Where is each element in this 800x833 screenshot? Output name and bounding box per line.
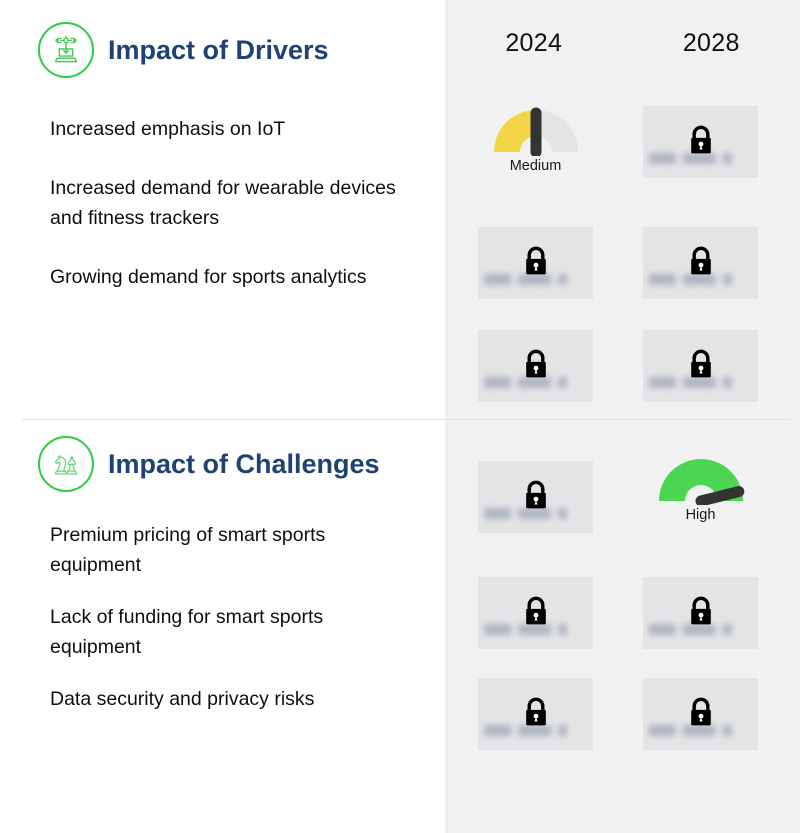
section-divider: [22, 419, 790, 420]
gauge-dial: [653, 455, 749, 505]
list-item: Growing demand for sports analytics: [50, 262, 410, 292]
gauge-high: High: [643, 455, 758, 527]
cell-challenges-0-2028[interactable]: High: [643, 455, 758, 527]
lock-icon: [521, 479, 551, 513]
locked-tile[interactable]: [478, 461, 593, 533]
chess-pieces-icon: [38, 436, 94, 492]
drivers-list: Increased emphasis on IoT Increased dema…: [0, 114, 445, 292]
locked-tile[interactable]: [643, 106, 758, 178]
locked-tile[interactable]: [643, 330, 758, 402]
list-item: Increased emphasis on IoT: [50, 114, 410, 144]
cell-drivers-0-2028[interactable]: [643, 106, 758, 178]
list-item: Lack of funding for smart sports equipme…: [50, 602, 410, 662]
challenges-list: Premium pricing of smart sports equipmen…: [0, 520, 445, 714]
laptop-innovation-icon: [38, 22, 94, 78]
lock-icon: [521, 595, 551, 629]
lock-icon: [521, 696, 551, 730]
cell-challenges-1-2024[interactable]: [478, 577, 593, 649]
locked-tile[interactable]: [478, 577, 593, 649]
gauge-medium: Medium: [478, 106, 593, 178]
column-header-2024: 2024: [445, 22, 623, 64]
list-item: Data security and privacy risks: [50, 684, 410, 714]
lock-icon: [686, 696, 716, 730]
cell-drivers-2-2028[interactable]: [643, 330, 758, 402]
challenges-title: Impact of Challenges: [108, 449, 380, 480]
cell-drivers-2-2024[interactable]: [478, 330, 593, 402]
cell-challenges-1-2028[interactable]: [643, 577, 758, 649]
locked-tile[interactable]: [478, 678, 593, 750]
lock-icon: [686, 124, 716, 158]
lock-icon: [686, 245, 716, 279]
challenges-header: Impact of Challenges: [0, 432, 445, 496]
cell-challenges-2-2028[interactable]: [643, 678, 758, 750]
locked-tile[interactable]: [643, 678, 758, 750]
section-challenges: Impact of Challenges Premium pricing of …: [0, 432, 445, 714]
list-item: Increased demand for wearable devices an…: [50, 173, 410, 233]
cell-challenges-0-2024[interactable]: [478, 461, 593, 533]
lock-icon: [521, 245, 551, 279]
lock-icon: [521, 348, 551, 382]
drivers-header: Impact of Drivers: [0, 18, 445, 82]
year-header-row: 2024 2028: [445, 22, 800, 64]
lock-icon: [686, 348, 716, 382]
gauge-label: High: [686, 507, 716, 523]
lock-icon: [686, 595, 716, 629]
locked-tile[interactable]: [643, 227, 758, 299]
cell-drivers-1-2024[interactable]: [478, 227, 593, 299]
cell-drivers-1-2028[interactable]: [643, 227, 758, 299]
locked-tile[interactable]: [643, 577, 758, 649]
gauge-dial: [488, 106, 584, 156]
cell-challenges-2-2024[interactable]: [478, 678, 593, 750]
cell-drivers-0-2024[interactable]: Medium: [478, 106, 593, 178]
section-drivers: Impact of Drivers Increased emphasis on …: [0, 18, 445, 292]
locked-tile[interactable]: [478, 227, 593, 299]
column-header-2028: 2028: [623, 22, 800, 64]
gauge-label: Medium: [510, 158, 562, 174]
locked-tile[interactable]: [478, 330, 593, 402]
drivers-title: Impact of Drivers: [108, 35, 329, 66]
list-item: Premium pricing of smart sports equipmen…: [50, 520, 410, 580]
